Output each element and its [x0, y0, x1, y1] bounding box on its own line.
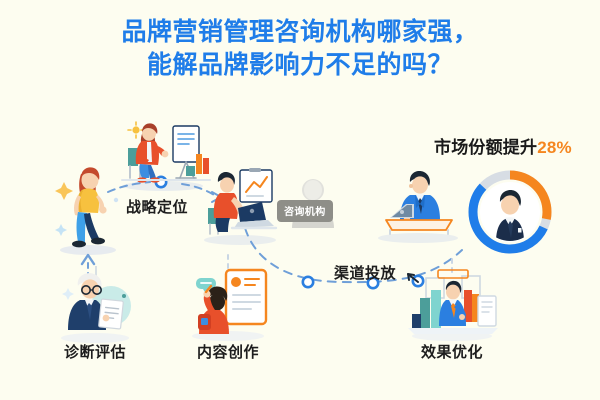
walking-woman-figure — [54, 160, 128, 256]
step-label-diagnosis: 诊断评估 — [50, 341, 140, 362]
title-line-2: 能解品牌影响力不足的吗？ — [0, 49, 600, 82]
flow-label-channel: 渠道投放 — [334, 262, 396, 283]
metric-label: 市场份额提升 — [434, 138, 537, 157]
step-optimize-figure — [404, 268, 502, 340]
step-label-content: 内容创作 — [183, 341, 273, 362]
market-share-donut-chart — [462, 164, 558, 260]
flow-label-strategy: 战略定位 — [126, 196, 188, 217]
infographic-canvas: 品牌营销管理咨询机构哪家强， 能解品牌影响力不足的吗？ 市场份额提升28% — [0, 0, 600, 400]
metric-value: 28% — [537, 138, 572, 157]
step-label-optimize: 效果优化 — [407, 341, 497, 362]
presenter-whiteboard-figure — [118, 118, 214, 190]
agency-chip-label: 咨询机构 — [277, 200, 333, 222]
businessman-laptop-figure — [380, 168, 460, 240]
page-title: 品牌营销管理咨询机构哪家强， 能解品牌影响力不足的吗？ — [0, 16, 600, 82]
title-line-1: 品牌营销管理咨询机构哪家强， — [0, 16, 600, 49]
step-content-figure — [184, 264, 272, 338]
analyst-laptop-figure — [204, 168, 280, 240]
step-diagnosis-figure — [56, 266, 136, 338]
market-share-metric: 市场份额提升28% — [434, 133, 572, 158]
